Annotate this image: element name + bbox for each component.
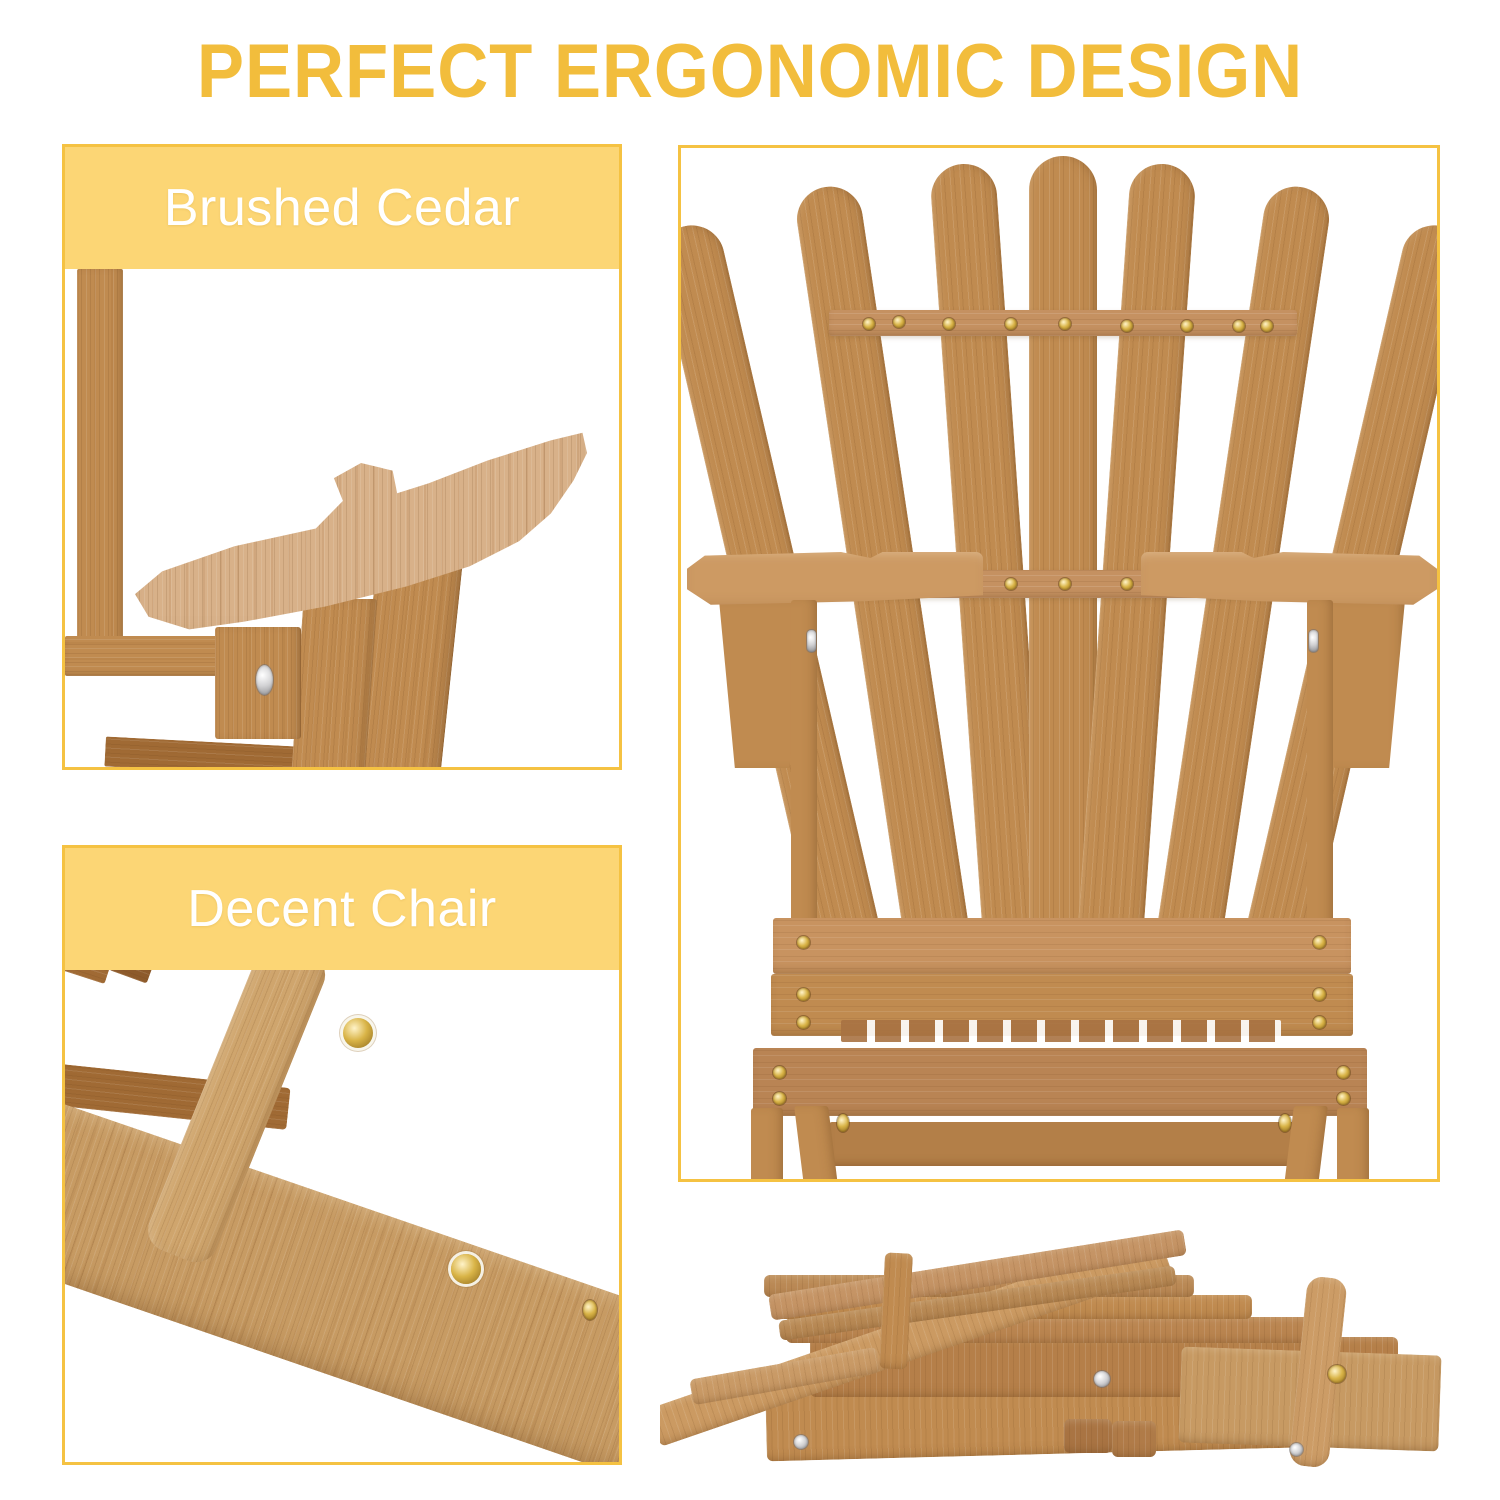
seat-screw-6 bbox=[1313, 1016, 1326, 1029]
armrest-right bbox=[1141, 552, 1437, 612]
cedar-vertical-post bbox=[77, 269, 123, 659]
seat-screw-2 bbox=[1313, 936, 1326, 949]
arm-hinge-screw-left bbox=[807, 630, 816, 652]
seat-screw-8 bbox=[1337, 1066, 1350, 1079]
folded-screw-7 bbox=[1290, 1443, 1303, 1456]
seat-rail-top bbox=[773, 918, 1351, 974]
front-leg-left bbox=[751, 1108, 783, 1182]
banner-decent-chair: Decent Chair bbox=[65, 848, 619, 970]
seat-screw-10 bbox=[1337, 1092, 1350, 1105]
seat-screw-4 bbox=[1313, 988, 1326, 1001]
main-chair-photo bbox=[681, 148, 1437, 1179]
seat-screw-7 bbox=[773, 1066, 786, 1079]
cedar-front-leg bbox=[290, 599, 377, 770]
seat-screw-3 bbox=[797, 988, 810, 1001]
stretcher-hinge-left bbox=[837, 1114, 849, 1132]
seat-diagonal-beam bbox=[62, 1094, 622, 1465]
panel-main-chair bbox=[678, 145, 1440, 1182]
seat-slat-gaps bbox=[841, 1020, 1281, 1042]
seat-rail-front bbox=[753, 1048, 1367, 1116]
folded-block-2 bbox=[1112, 1421, 1156, 1457]
beam-screw bbox=[583, 1300, 597, 1320]
front-leg-right bbox=[1337, 1108, 1369, 1182]
brace-screw-lower bbox=[451, 1254, 481, 1284]
rail-screw-u2 bbox=[893, 316, 905, 328]
infographic-page: PERFECT ERGONOMIC DESIGN Brushed Cedar bbox=[0, 0, 1500, 1500]
seat-screw-5 bbox=[797, 1016, 810, 1029]
folded-screw-6 bbox=[794, 1435, 808, 1449]
rail-screw-l6 bbox=[1121, 578, 1133, 590]
armrest-screw bbox=[256, 665, 273, 695]
brace-screw-upper bbox=[343, 1018, 373, 1048]
lower-stretcher bbox=[829, 1122, 1295, 1166]
rail-screw-u9 bbox=[1261, 320, 1273, 332]
rail-screw-u6 bbox=[1121, 320, 1133, 332]
banner-decent-chair-label: Decent Chair bbox=[187, 879, 496, 939]
stretcher-hinge-right bbox=[1279, 1114, 1291, 1132]
rail-screw-l5 bbox=[1059, 578, 1071, 590]
rail-screw-u7 bbox=[1181, 320, 1193, 332]
armrest-left bbox=[687, 552, 983, 612]
banner-brushed-cedar-label: Brushed Cedar bbox=[164, 178, 520, 238]
banner-brushed-cedar: Brushed Cedar bbox=[65, 147, 619, 269]
rail-screw-l4 bbox=[1005, 578, 1017, 590]
panel-brushed-cedar: Brushed Cedar bbox=[62, 144, 622, 770]
rail-screw-u1 bbox=[863, 318, 875, 330]
folded-block-1 bbox=[1064, 1419, 1112, 1453]
arm-hinge-screw-right bbox=[1309, 630, 1318, 652]
rail-screw-u8 bbox=[1233, 320, 1245, 332]
folded-chair-photo bbox=[660, 1195, 1460, 1495]
seat-screw-1 bbox=[797, 936, 810, 949]
rail-screw-u3 bbox=[943, 318, 955, 330]
seat-screw-9 bbox=[773, 1092, 786, 1105]
rail-screw-u5 bbox=[1059, 318, 1071, 330]
panel-folded-chair bbox=[660, 1195, 1460, 1495]
page-title: PERFECT ERGONOMIC DESIGN bbox=[53, 34, 1448, 110]
folded-screw-4 bbox=[1328, 1365, 1346, 1383]
rail-screw-u4 bbox=[1005, 318, 1017, 330]
panel-decent-chair: Decent Chair bbox=[62, 845, 622, 1465]
folded-screw-3 bbox=[1094, 1371, 1110, 1387]
